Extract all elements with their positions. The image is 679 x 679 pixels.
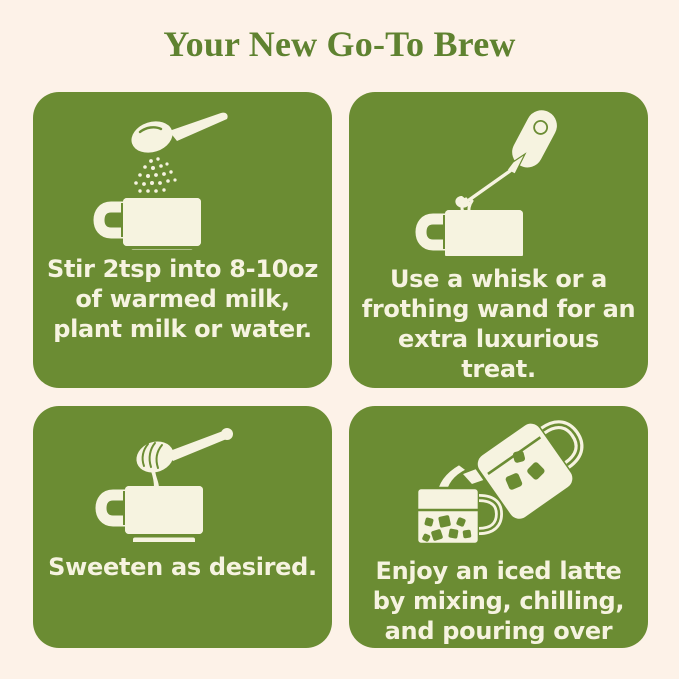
instruction-card-text: Use a whisk or a frothing wand for an ex… bbox=[349, 264, 648, 384]
instruction-card-sweeten[interactable]: Sweeten as desired. bbox=[33, 406, 332, 648]
instruction-card-text: Enjoy an iced latte by mixing, chilling,… bbox=[349, 556, 648, 648]
instruction-card-grid: Stir 2tsp into 8-10oz of warmed milk, pl… bbox=[33, 92, 648, 648]
instruction-card-whisk[interactable]: Use a whisk or a frothing wand for an ex… bbox=[349, 92, 648, 388]
frothing-wand-in-mug-icon bbox=[409, 104, 589, 256]
spoon-pouring-powder-into-mug-icon bbox=[93, 110, 273, 250]
instruction-card-iced[interactable]: Enjoy an iced latte by mixing, chilling,… bbox=[349, 406, 648, 648]
instruction-card-stir[interactable]: Stir 2tsp into 8-10oz of warmed milk, pl… bbox=[33, 92, 332, 388]
pitcher-pouring-into-iced-glass-icon bbox=[399, 418, 599, 550]
instruction-card-text: Stir 2tsp into 8-10oz of warmed milk, pl… bbox=[33, 254, 332, 344]
infographic-page: Your New Go-To Brew bbox=[0, 0, 679, 679]
page-title: Your New Go-To Brew bbox=[0, 24, 679, 64]
honey-dipper-over-mug-icon bbox=[93, 424, 273, 542]
instruction-card-text: Sweeten as desired. bbox=[33, 552, 332, 582]
